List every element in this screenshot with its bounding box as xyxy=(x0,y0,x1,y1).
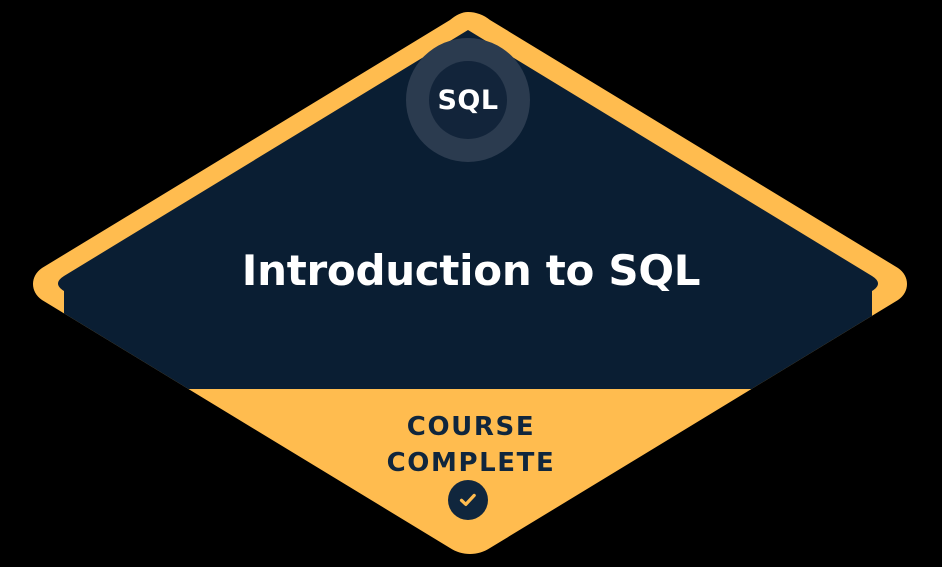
status-line-course: COURSE xyxy=(0,409,942,445)
sql-emblem-label: SQL xyxy=(437,87,498,114)
sql-emblem-inner: SQL xyxy=(429,61,507,139)
status-line-complete: COMPLETE xyxy=(0,445,942,481)
check-circle-icon xyxy=(448,480,488,520)
course-title: Introduction to SQL xyxy=(0,243,942,299)
check-mark-icon xyxy=(457,489,479,511)
sql-circle-icon: SQL xyxy=(406,38,530,162)
course-status: COURSE COMPLETE xyxy=(0,409,942,481)
course-badge[interactable]: SQL Introduction to SQL COURSE COMPLETE xyxy=(0,0,942,567)
